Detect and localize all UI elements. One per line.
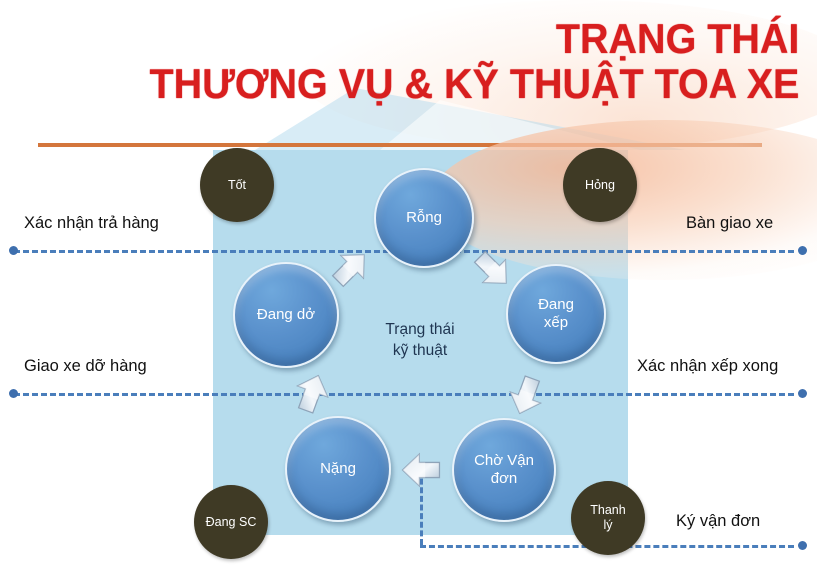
connector-line-row3-vertical — [420, 470, 423, 545]
panel-caption: Trạng thái kỹ thuật — [360, 320, 480, 362]
page-title-line2: THƯƠNG VỤ & KỸ THUẬT TOA XE — [149, 63, 799, 106]
connector-dot-row2-left — [9, 389, 18, 398]
connector-label-ban-giao-xe: Bàn giao xe — [686, 214, 773, 233]
cycle-node-dang-xep-line2: xếp — [544, 314, 568, 331]
cycle-node-dang-do[interactable]: Đang dở — [233, 262, 339, 368]
connector-dot-row1-right — [798, 246, 807, 255]
connector-label-xac-nhan-xep-xong: Xác nhận xếp xong — [637, 357, 778, 376]
cycle-node-rong[interactable]: Rỗng — [374, 168, 474, 268]
cycle-node-cho-van-don-label: Chờ Vận đơn — [474, 452, 534, 487]
diagram-canvas: TRẠNG THÁI THƯƠNG VỤ & KỸ THUẬT TOA XE T… — [0, 0, 817, 567]
connector-label-giao-xe-do-hang: Giao xe dỡ hàng — [24, 357, 147, 376]
cycle-node-dang-xep[interactable]: Đang xếp — [506, 264, 606, 364]
cycle-node-nang-label: Nặng — [320, 460, 356, 478]
status-node-tot[interactable]: Tốt — [200, 148, 274, 222]
cycle-node-dang-xep-line1: Đang — [538, 296, 574, 313]
cycle-node-dang-xep-label: Đang xếp — [538, 296, 574, 331]
status-node-thanh-ly[interactable]: Thanh lý — [571, 481, 645, 555]
cycle-node-cho-van-don-line2: đơn — [491, 470, 518, 487]
connector-dot-row1-left — [9, 246, 18, 255]
connector-label-xac-nhan-tra-hang: Xác nhận trả hàng — [24, 214, 159, 233]
panel-caption-line2: kỹ thuật — [393, 342, 447, 359]
cycle-node-cho-van-don[interactable]: Chờ Vận đơn — [452, 418, 556, 522]
panel-caption-line1: Trạng thái — [385, 321, 454, 338]
status-node-tot-label: Tốt — [228, 178, 246, 193]
status-node-thanh-ly-line1: Thanh — [590, 503, 625, 517]
status-node-hong-label: Hỏng — [585, 178, 615, 193]
cycle-node-cho-van-don-line1: Chờ Vận — [474, 452, 534, 469]
connector-dot-row3-right — [798, 541, 807, 550]
cycle-node-nang[interactable]: Nặng — [285, 416, 391, 522]
status-node-hong[interactable]: Hỏng — [563, 148, 637, 222]
cycle-node-dang-do-label: Đang dở — [257, 306, 315, 324]
connector-label-ky-van-don: Ký vận đơn — [676, 512, 760, 531]
status-node-thanh-ly-line2: lý — [603, 518, 612, 532]
connector-line-row2 — [14, 393, 794, 396]
cycle-node-rong-label: Rỗng — [406, 209, 442, 227]
connector-dot-row2-right — [798, 389, 807, 398]
white-mountain-shape-icon — [380, 100, 640, 150]
status-node-thanh-ly-label: Thanh lý — [590, 503, 625, 533]
orange-divider-rule — [38, 143, 762, 147]
page-title: TRẠNG THÁI THƯƠNG VỤ & KỸ THUẬT TOA XE — [108, 18, 799, 106]
page-title-line1: TRẠNG THÁI — [149, 18, 799, 61]
status-node-dang-sc[interactable]: Đang SC — [194, 485, 268, 559]
status-node-dang-sc-label: Đang SC — [206, 515, 257, 530]
